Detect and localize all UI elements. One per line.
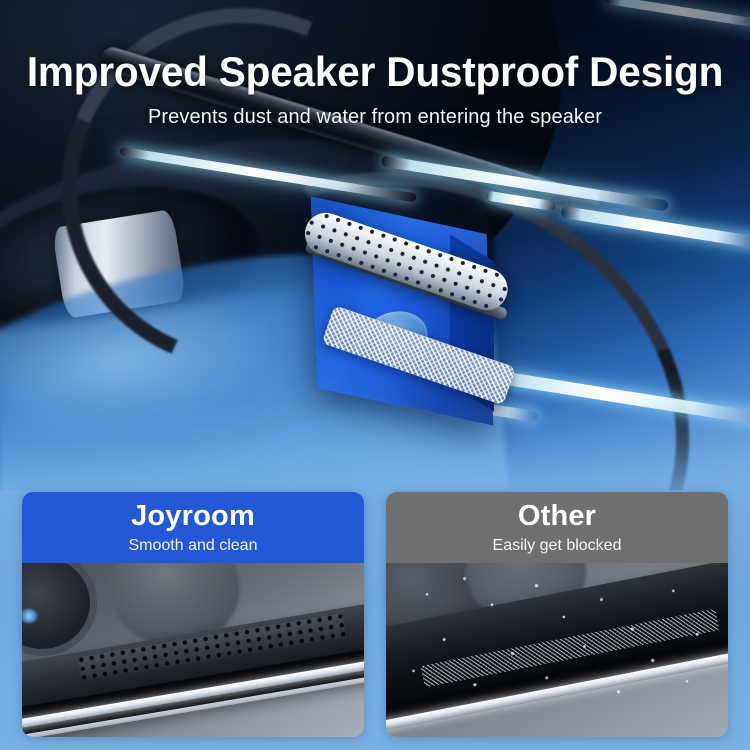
comparison-section: Joyroom Smooth and clean Other Easily ge… xyxy=(0,490,750,750)
page-title: Improved Speaker Dustproof Design xyxy=(13,50,737,95)
product-marketing-image: Improved Speaker Dustproof Design Preven… xyxy=(0,0,750,750)
joyroom-caption: Smooth and clean xyxy=(129,538,258,554)
hero-text-block: Improved Speaker Dustproof Design Preven… xyxy=(0,50,750,129)
other-header: Other Easily get blocked xyxy=(386,492,728,563)
speaker-grille-render xyxy=(300,200,520,450)
comparison-panel-other: Other Easily get blocked xyxy=(386,492,728,737)
joyroom-photo xyxy=(22,563,364,737)
joyroom-brand-label: Joyroom xyxy=(131,502,255,531)
page-subtitle: Prevents dust and water from entering th… xyxy=(0,106,750,129)
hero-section: Improved Speaker Dustproof Design Preven… xyxy=(0,0,750,500)
other-caption: Easily get blocked xyxy=(493,538,622,554)
comparison-panel-joyroom: Joyroom Smooth and clean xyxy=(22,492,364,737)
other-brand-label: Other xyxy=(518,502,596,531)
other-photo xyxy=(386,563,728,737)
joyroom-header: Joyroom Smooth and clean xyxy=(22,492,364,563)
